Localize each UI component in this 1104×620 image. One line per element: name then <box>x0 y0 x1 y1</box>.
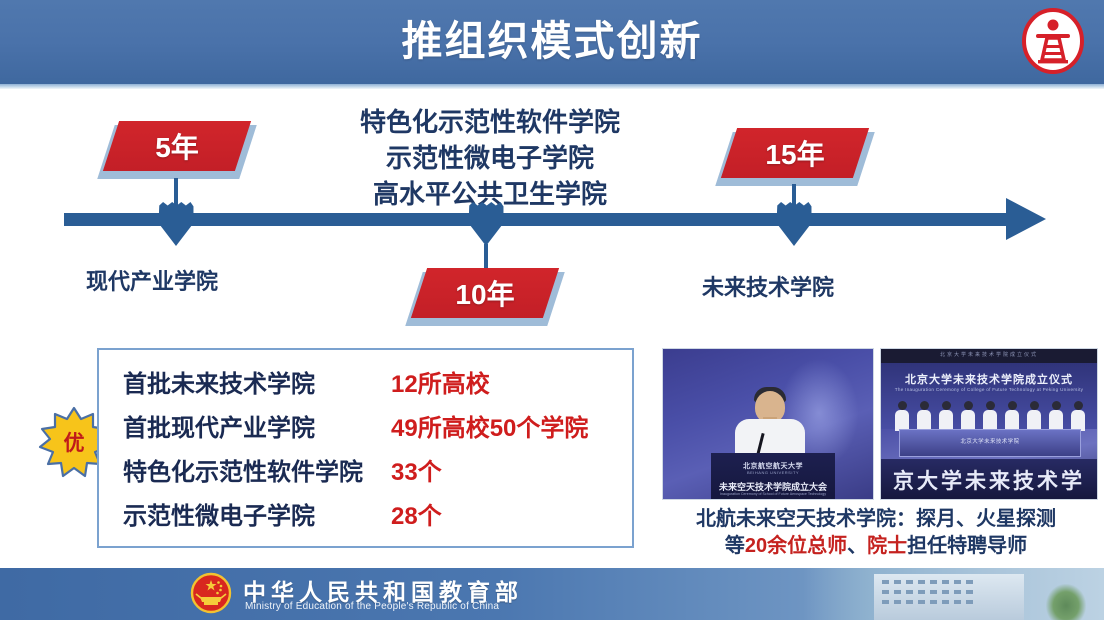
info-row-name: 特色化示范性软件学院 <box>123 452 391 487</box>
info-row-name: 首批未来技术学院 <box>123 364 391 399</box>
caption-red-2: 院士 <box>867 535 907 557</box>
caption-line-2: 等20余位总师、院士担任特聘导师 <box>648 533 1104 560</box>
info-row-name: 首批现代产业学院 <box>123 408 391 443</box>
person <box>895 401 909 431</box>
stage-foreground-text: 京大学未来技术学 <box>881 465 1097 495</box>
info-row-name: 示范性微电子学院 <box>123 496 391 531</box>
university-circular-emblem-icon <box>1020 8 1086 74</box>
center-text-stack: 特色化示范性软件学院 示范性微电子学院 高水平公共卫生学院 <box>310 104 670 212</box>
year-badge-5: 5年 <box>106 121 248 179</box>
info-row: 示范性微电子学院 28个 <box>99 496 632 540</box>
stage-people-row <box>895 401 1085 431</box>
year-badge-10: 10年 <box>414 268 556 326</box>
info-row-value: 33个 <box>391 452 442 487</box>
caption-post: 担任特聘导师 <box>907 535 1027 557</box>
info-row: 首批现代产业学院 49所高校50个学院 <box>99 408 632 452</box>
caption-red-1: 20余位总师 <box>745 535 847 557</box>
campus-building-photo <box>804 568 1104 620</box>
person <box>917 401 931 431</box>
stage-banner-cn: 北京大学未来技术学院成立仪式 <box>881 371 1097 387</box>
tree <box>1046 584 1086 620</box>
shield-marker-icon <box>157 202 195 246</box>
milestone-label-1: 现代产业学院 <box>86 264 218 296</box>
footer-title-en: Ministry of Education of the People's Re… <box>245 601 499 612</box>
center-line-2: 示范性微电子学院 <box>310 140 670 176</box>
stage-top-strip-text: 北京大学未来技术学院成立仪式 <box>881 351 1097 358</box>
caption-mid: 、 <box>847 535 867 557</box>
speaker-at-podium-photo: 北京航空航天大学 BEIHANG UNIVERSITY 未来空天技术学院成立大会… <box>662 348 874 500</box>
footer-bar <box>0 568 1104 620</box>
national-emblem-icon <box>190 572 232 614</box>
info-row: 特色化示范性软件学院 33个 <box>99 452 632 496</box>
milestone-stem-1 <box>174 178 178 208</box>
timeline-axis <box>64 213 1014 226</box>
info-row: 首批未来技术学院 12所高校 <box>99 364 632 408</box>
caption-pre: 等 <box>725 535 745 557</box>
person <box>1027 401 1041 431</box>
year-badge-label: 10年 <box>414 268 556 318</box>
center-line-1: 特色化示范性软件学院 <box>310 104 670 140</box>
slide-root: 推组织模式创新 特色化示范性软件学院 示范性微电子学院 高水平公共卫生学院 5年… <box>0 0 1104 620</box>
podium-event-en: Inauguration Ceremony of School of Futur… <box>713 492 833 496</box>
photo-group: 北京航空航天大学 BEIHANG UNIVERSITY 未来空天技术学院成立大会… <box>662 348 1100 500</box>
person <box>1071 401 1085 431</box>
ceremony-stage-photo: 北京大学未来技术学院成立仪式 北京大学未来技术学院成立仪式 The Inaugu… <box>880 348 1098 500</box>
info-box: 首批未来技术学院 12所高校 首批现代产业学院 49所高校50个学院 特色化示范… <box>97 348 634 548</box>
year-badge-label: 5年 <box>106 121 248 171</box>
podium-text-en: BEIHANG UNIVERSITY <box>723 470 823 475</box>
header-underline <box>0 84 1104 89</box>
person <box>939 401 953 431</box>
right-arrow-icon <box>1006 198 1046 240</box>
info-row-value: 12所高校 <box>391 364 490 399</box>
milestone-label-3: 未来技术学院 <box>702 270 834 302</box>
person <box>1049 401 1063 431</box>
year-badge-15: 15年 <box>724 128 866 186</box>
page-title: 推组织模式创新 <box>0 8 1104 74</box>
stage-table-text: 北京大学未来技术学院 <box>899 437 1081 445</box>
shield-marker-icon <box>467 202 505 246</box>
photo-caption: 北航未来空天技术学院：探月、火星探测 等20余位总师、院士担任特聘导师 <box>648 506 1104 560</box>
person <box>1005 401 1019 431</box>
info-row-value: 49所高校50个学院 <box>391 408 588 443</box>
year-badge-label: 15年 <box>724 128 866 178</box>
person <box>961 401 975 431</box>
shield-marker-icon <box>775 202 813 246</box>
caption-line-1: 北航未来空天技术学院：探月、火星探测 <box>648 506 1104 533</box>
info-row-value: 28个 <box>391 496 442 531</box>
person <box>983 401 997 431</box>
info-row-list: 首批未来技术学院 12所高校 首批现代产业学院 49所高校50个学院 特色化示范… <box>99 350 632 540</box>
stage-banner-en: The Inauguration Ceremony of College of … <box>881 387 1097 392</box>
